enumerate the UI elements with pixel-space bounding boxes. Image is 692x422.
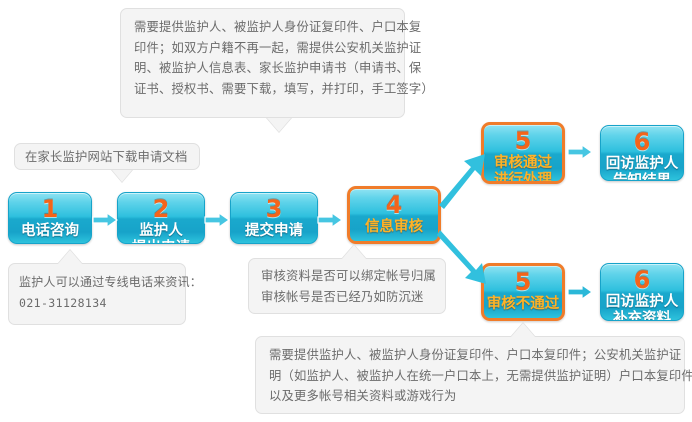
callout-tail-inner <box>511 323 535 337</box>
flow-step-1[interactable]: 1 电话咨询 <box>8 192 92 244</box>
step-label: 电话咨询 <box>21 223 79 240</box>
callout-line: 审核帐号是否已经乃如防沉迷 <box>261 287 433 308</box>
arrow-diagonal-up-icon-review-passed <box>437 150 489 212</box>
callout-bottom-requirements: 需要提供监护人、被监护人身份证复印件、户口本复印件；公安机关监护证 明（如监护人… <box>255 336 685 414</box>
callout-line: 需要提供监护人、被监护人身份证复印件、户口本复印件；公安机关监护证 <box>269 345 672 366</box>
arrow-right-icon-fail-to-supplement <box>567 283 593 301</box>
callout-line: 印件；如双方户籍不再一起，需提供公安机关监护证 <box>134 38 392 59</box>
step-number: 6 <box>634 130 651 154</box>
callout-line: 以及更多帐号相关资料或游戏行为 <box>269 386 672 407</box>
callout-line: 监护人可以通过专线电话来资讯： <box>19 272 175 293</box>
callout-hotline-info: 监护人可以通过专线电话来资讯： 021-31128134 <box>8 263 186 325</box>
step-label: 信息审核 <box>365 219 423 236</box>
step-label: 审核不通过 <box>487 296 560 313</box>
flow-step-3[interactable]: 3 提交申请 <box>230 192 318 244</box>
callout-line: 明、被监护人信息表、家长监护申请书（申请书、保 <box>134 58 392 79</box>
callout-tail-inner <box>267 118 291 132</box>
step-number: 6 <box>634 268 651 292</box>
callout-line: 需要提供监护人、被监护人身份证复印件、户口本复 <box>134 17 392 38</box>
flow-step-2[interactable]: 2 监护人 提出申请 <box>117 192 205 244</box>
flow-step-5-review-failed[interactable]: 5 审核不通过 <box>481 263 565 321</box>
flow-step-4-info-review[interactable]: 4 信息审核 <box>347 186 441 244</box>
callout-line: 证书、授权书、需要下载，填写，并打印，手工签字） <box>134 79 392 100</box>
flow-step-6-notify-result[interactable]: 6 回访监护人 告知结果 <box>600 125 684 181</box>
step-number: 5 <box>515 270 532 294</box>
arrow-right-icon-step3-to-step4 <box>317 211 343 229</box>
arrow-right-icon-step2-to-step3 <box>204 211 230 229</box>
step-label: 回访监护人 告知结果 <box>606 156 679 181</box>
flow-step-6-supplement-materials[interactable]: 6 回访监护人 补充资料 <box>600 263 684 321</box>
step-number: 3 <box>266 197 283 221</box>
callout-line: 在家长监护网站下载申请文档 <box>25 148 189 167</box>
flow-step-5-review-passed[interactable]: 5 审核通过 进行处理 <box>481 122 565 184</box>
step-label: 监护人 提出申请 <box>132 223 190 244</box>
arrow-right-icon-pass-to-notify <box>567 143 593 161</box>
callout-top-requirements: 需要提供监护人、被监护人身份证复印件、户口本复 印件；如双方户籍不再一起，需提供… <box>120 8 405 118</box>
callout-audit-checks: 审核资料是否可以绑定帐号归属 审核帐号是否已经乃如防沉迷 <box>248 258 446 314</box>
callout-download-document: 在家长监护网站下载申请文档 <box>14 143 200 170</box>
callout-tail-inner <box>342 245 366 259</box>
step-number: 2 <box>153 197 170 221</box>
hotline-number: 021-31128134 <box>19 293 175 314</box>
step-label: 回访监护人 补充资料 <box>606 294 679 321</box>
step-number: 1 <box>42 197 59 221</box>
step-label: 提交申请 <box>245 223 303 240</box>
callout-tail-inner <box>58 250 82 264</box>
arrow-right-icon-step1-to-step2 <box>92 211 118 229</box>
step-label: 审核通过 进行处理 <box>494 155 552 184</box>
step-number: 4 <box>386 193 403 217</box>
step-number: 5 <box>515 129 532 153</box>
callout-line: 审核资料是否可以绑定帐号归属 <box>261 266 433 287</box>
callout-tail-inner <box>112 170 132 182</box>
callout-line: 明（如监护人、被监护人在统一户口本上，无需提供监护证明）户口本复印件， <box>269 366 672 387</box>
